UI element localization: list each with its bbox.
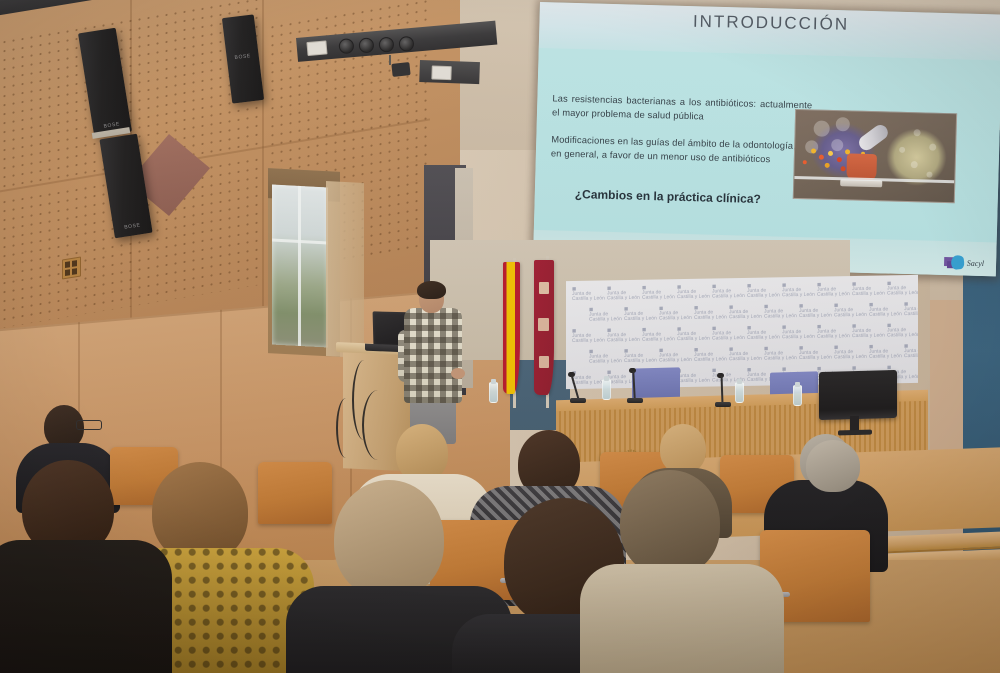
backdrop-logo: ■Junta deCastilla y León [729, 347, 762, 363]
power-outlet-icon [378, 37, 394, 53]
presenter-torso [404, 308, 462, 403]
backdrop-logo: ■Junta deCastilla y León [869, 344, 902, 360]
backdrop-logo: ■Junta deCastilla y León [747, 325, 780, 341]
backdrop-logo: ■Junta deCastilla y León [642, 327, 675, 343]
audience-shoulders [580, 564, 784, 673]
cable [336, 398, 356, 458]
slide-question: ¿Cambios en la práctica clínica? [575, 187, 761, 206]
power-outlet-icon [398, 36, 414, 52]
power-outlet-icon [338, 38, 354, 54]
petri-dish-illustration [793, 109, 957, 203]
monitor-foot [838, 430, 872, 436]
backdrop-logo: ■Junta deCastilla y León [782, 283, 815, 299]
slide-paragraph-2: Modificaciones en las guías del ámbito d… [551, 133, 810, 167]
backdrop-logo: ■Junta deCastilla y León [677, 285, 710, 301]
backdrop-logo: ■Junta deCastilla y León [729, 305, 762, 321]
window-glass [272, 185, 328, 348]
backdrop-logo: ■Junta deCastilla y León [677, 327, 710, 343]
water-bottle [489, 382, 498, 403]
backdrop-logo: ■Junta deCastilla y León [834, 345, 867, 361]
backdrop-logo: ■Junta deCastilla y León [817, 282, 850, 298]
backdrop-logo: ■Junta deCastilla y León [572, 328, 605, 344]
backdrop-logo: ■Junta deCastilla y León [852, 324, 885, 340]
water-bottle [793, 385, 802, 406]
backdrop-logo: ■Junta deCastilla y León [799, 345, 832, 361]
backdrop-logo: ■Junta deCastilla y León [659, 348, 692, 364]
cable [362, 390, 394, 460]
backdrop-logo: ■Junta deCastilla y León [869, 302, 902, 318]
camera-mount [389, 55, 391, 65]
backdrop-logo: ■Junta deCastilla y León [887, 323, 918, 339]
presenter-hair [417, 281, 446, 299]
backdrop-logo: ■Junta deCastilla y León [904, 302, 918, 318]
eyeglasses-icon [76, 420, 102, 430]
backdrop-logo: ■Junta deCastilla y León [624, 306, 657, 322]
water-bottle [735, 382, 744, 403]
security-camera-icon [391, 62, 410, 77]
speaker-brand-label: BOSE [234, 53, 251, 61]
backdrop-logo: ■Junta deCastilla y León [782, 325, 815, 341]
backdrop-logo: ■Junta deCastilla y León [904, 344, 918, 360]
backdrop-logo: ■Junta deCastilla y León [799, 303, 832, 319]
auditorium-chair [258, 462, 332, 524]
backdrop-logo: ■Junta deCastilla y León [712, 326, 745, 342]
wall-trim-band-3 [419, 60, 480, 84]
backdrop-logo: ■Junta deCastilla y León [572, 370, 605, 386]
pill-capsule-icon [856, 122, 891, 153]
audience-head [334, 480, 444, 598]
backdrop-logo: ■Junta deCastilla y León [642, 285, 675, 301]
backdrop-logo: ■Junta deCastilla y León [817, 324, 850, 340]
backdrop-logo: ■Junta deCastilla y León [834, 303, 867, 319]
backdrop-logo: ■Junta deCastilla y León [659, 306, 692, 322]
window-curtain [326, 181, 364, 358]
backdrop-logo: ■Junta deCastilla y León [764, 304, 797, 320]
audience-head [806, 440, 860, 492]
audience-head [152, 462, 248, 562]
backdrop-logo: ■Junta deCastilla y León [694, 347, 727, 363]
backdrop-logo: ■Junta deCastilla y León [607, 286, 640, 302]
backdrop-logo: ■Junta deCastilla y León [764, 346, 797, 362]
projection-screen: INTRODUCCIÓN Las resistencias bacteriana… [533, 2, 1000, 276]
sacyl-logo: Sacyl [944, 255, 985, 271]
audience-head [660, 424, 706, 474]
sacyl-mark-icon [944, 255, 964, 271]
wall-plate-icon [431, 65, 451, 80]
backdrop-logo: ■Junta deCastilla y León [677, 369, 710, 385]
auditorium-photo: BOSE BOSE BOSE INTRODUCCIÓN Las resisten… [0, 0, 1000, 673]
sacyl-logo-text: Sacyl [967, 259, 985, 268]
audience-head [620, 470, 720, 576]
backdrop-logo: ■Junta deCastilla y León [589, 349, 622, 365]
backdrop-logo: ■Junta deCastilla y León [607, 328, 640, 344]
water-bottle [602, 379, 611, 400]
computer-monitor [819, 370, 897, 420]
backdrop-logo: ■Junta deCastilla y León [589, 307, 622, 323]
speaker-brand-label: BOSE [124, 222, 141, 230]
backdrop-logo: ■Junta deCastilla y León [572, 286, 605, 302]
backdrop-logo: ■Junta deCastilla y León [852, 282, 885, 298]
slide-paragraph-1: Las resistencias bacterianas a los antib… [552, 92, 813, 126]
backdrop-logo: ■Junta deCastilla y León [712, 284, 745, 300]
flag-castilla-y-leon [534, 260, 554, 395]
power-outlet-icon [358, 37, 374, 53]
presenter-hand [451, 368, 465, 379]
audience-shoulders [0, 540, 172, 673]
backdrop-logo: ■Junta deCastilla y León [887, 281, 918, 297]
backdrop-logo: ■Junta deCastilla y León [694, 305, 727, 321]
wall-socket-icon [62, 256, 81, 279]
flag-spain [503, 262, 520, 394]
backdrop-logo: ■Junta deCastilla y León [747, 283, 780, 299]
backdrop-logo: ■Junta deCastilla y León [624, 348, 657, 364]
wall-plate-icon [306, 40, 327, 56]
